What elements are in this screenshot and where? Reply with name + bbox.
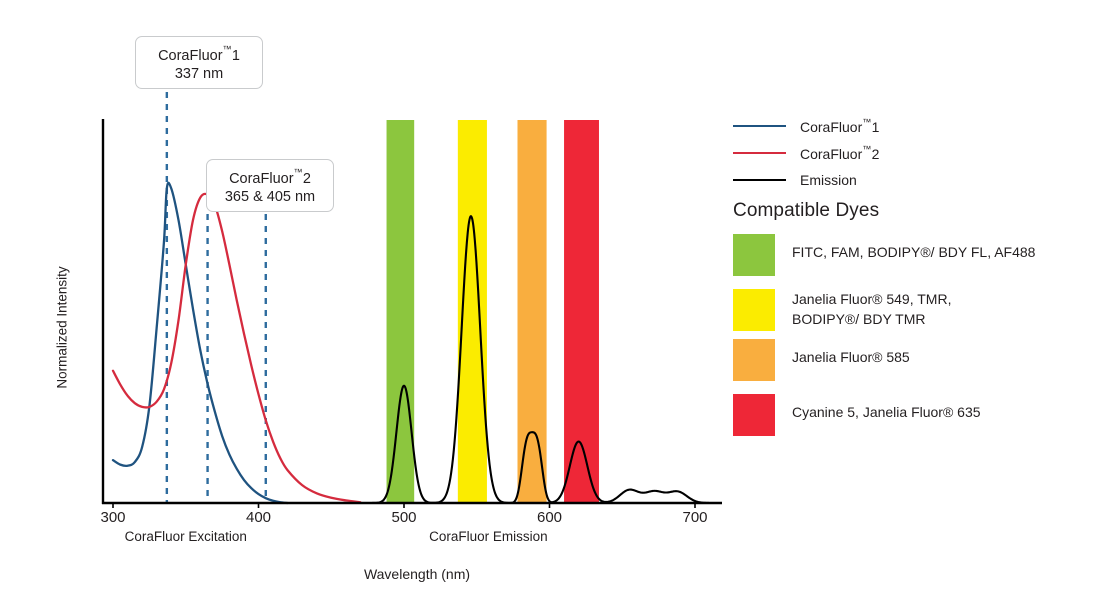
legend-line-swatch: [733, 152, 786, 154]
dye-label-line: Janelia Fluor® 549, TMR,: [792, 290, 951, 310]
dye-color-swatch: [733, 234, 775, 276]
legend-row-0: CoraFluor™1: [733, 112, 1063, 139]
legend-line-swatch: [733, 125, 786, 127]
legend-label: Emission: [800, 172, 857, 188]
x-tick-label-600: 600: [520, 509, 580, 526]
dye-label-line: FITC, FAM, BODIPY®/ BDY FL, AF488: [792, 243, 1035, 263]
x-tick-label-700: 700: [665, 509, 725, 526]
legend-label-text: CoraFluor: [800, 146, 862, 162]
legend-line-swatch: [733, 179, 786, 181]
legend-row-2: Emission: [733, 166, 1063, 193]
dye-color-swatch: [733, 339, 775, 381]
legend-label: CoraFluor™1: [800, 117, 879, 135]
x-tick-label-300: 300: [83, 509, 143, 526]
x-tick-label-400: 400: [229, 509, 289, 526]
dye-label: Janelia Fluor® 549, TMR,BODIPY®/ BDY TMR: [792, 289, 951, 330]
x-axis-title: Wavelength (nm): [307, 566, 527, 582]
dye-label: FITC, FAM, BODIPY®/ BDY FL, AF488: [792, 234, 1035, 263]
dye-color-swatch: [733, 289, 775, 331]
x-tick-label-500: 500: [374, 509, 434, 526]
y-axis-title: Normalized Intensity: [55, 238, 70, 418]
trademark-glyph: ™: [862, 117, 871, 127]
trademark-glyph: ™: [862, 144, 871, 154]
curve-corafluor-2: [113, 194, 360, 502]
dye-label-line: Janelia Fluor® 585: [792, 348, 910, 368]
spectra-figure: CoraFluor™1 337 nm CoraFluor™2 365 & 405…: [0, 0, 1110, 612]
dye-row-1: Janelia Fluor® 549, TMR,BODIPY®/ BDY TMR: [733, 289, 1093, 331]
legend-label: CoraFluor™2: [800, 144, 879, 162]
compatible-dyes-title: Compatible Dyes: [733, 200, 879, 222]
legend-label-text: CoraFluor: [800, 119, 862, 135]
region-label-emission: CoraFluor Emission: [378, 529, 598, 544]
dye-color-swatch: [733, 394, 775, 436]
callout-2-value: 365 & 405 nm: [217, 189, 323, 207]
dye-row-2: Janelia Fluor® 585: [733, 339, 1093, 381]
callout-1-title: CoraFluor™1: [146, 44, 252, 66]
dye-label-line: Cyanine 5, Janelia Fluor® 635: [792, 403, 981, 423]
callout-corafluor-1: CoraFluor™1 337 nm: [135, 36, 263, 89]
dye-label-line: BODIPY®/ BDY TMR: [792, 310, 951, 330]
dye-band-2: [517, 120, 546, 503]
legend-label-text: Emission: [800, 172, 857, 188]
legend-label-index: 1: [872, 119, 880, 135]
curve-corafluor-1: [113, 183, 288, 503]
legend-label-index: 2: [872, 146, 880, 162]
callout-1-value: 337 nm: [146, 66, 252, 84]
dye-label: Janelia Fluor® 585: [792, 339, 910, 368]
callout-corafluor-2: CoraFluor™2 365 & 405 nm: [206, 159, 334, 212]
region-label-excitation: CoraFluor Excitation: [76, 529, 296, 544]
dye-row-3: Cyanine 5, Janelia Fluor® 635: [733, 394, 1093, 436]
dye-band-0: [387, 120, 415, 503]
dye-row-0: FITC, FAM, BODIPY®/ BDY FL, AF488: [733, 234, 1093, 276]
legend-row-1: CoraFluor™2: [733, 139, 1063, 166]
callout-2-title: CoraFluor™2: [217, 167, 323, 189]
series-legend: CoraFluor™1CoraFluor™2Emission: [733, 112, 1063, 193]
dye-label: Cyanine 5, Janelia Fluor® 635: [792, 394, 981, 423]
compatible-dyes-list: FITC, FAM, BODIPY®/ BDY FL, AF488Janelia…: [733, 234, 1093, 449]
